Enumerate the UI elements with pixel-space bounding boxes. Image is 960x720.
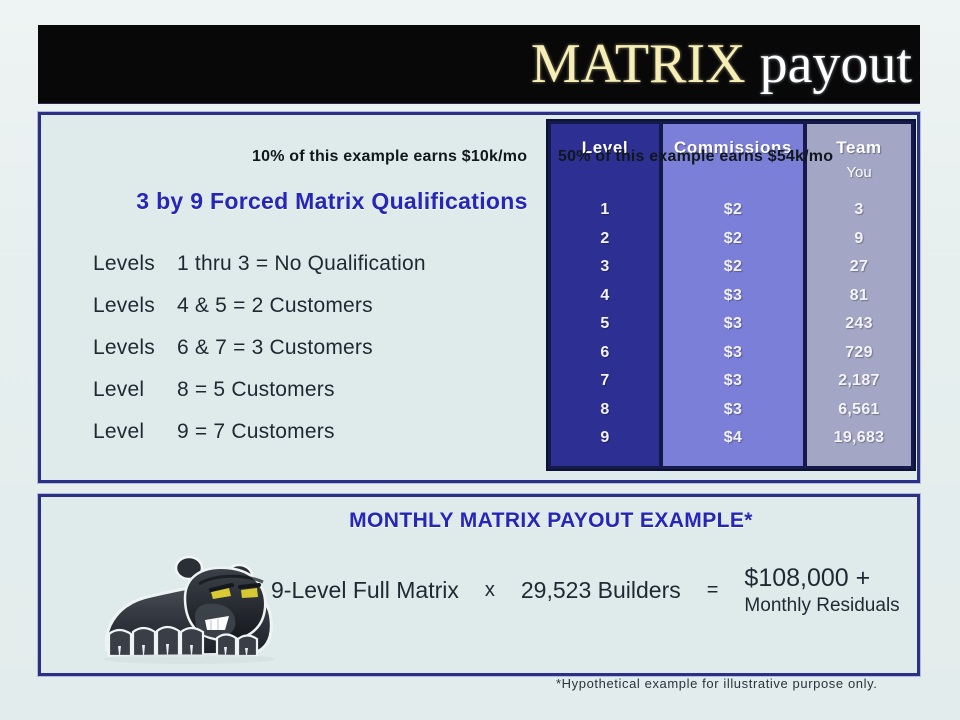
table-cell-commission: $3 [724, 282, 742, 311]
example-heading: MONTHLY MATRIX PAYOUT EXAMPLE* [201, 509, 901, 533]
qualification-row: Levels 4 & 5 = 2 Customers [59, 294, 529, 336]
table-cell-commission: $4 [724, 424, 742, 453]
formula-term-builders: 29,523 Builders [521, 577, 681, 604]
qualifications-heading: 3 by 9 Forced Matrix Qualifications [107, 188, 557, 215]
qualification-row: Levels 6 & 7 = 3 Customers [59, 336, 529, 378]
table-column-team: Team You 3 9 27 81 243 729 2,187 6,561 1… [807, 124, 911, 466]
team-cells: 3 9 27 81 243 729 2,187 6,561 19,683 [807, 196, 911, 453]
table-cell-team: 729 [845, 339, 873, 368]
table-cell-level: 7 [600, 367, 609, 396]
qualification-label: Levels [59, 252, 177, 276]
earnings-note-fifty-percent: 50% of this example earns $54k/mo [558, 148, 833, 166]
matrix-qualifications-panel: 3 by 9 Forced Matrix Qualifications Leve… [38, 112, 920, 483]
page-title-secondary: payout [746, 33, 912, 95]
table-cell-commission: $3 [724, 339, 742, 368]
table-cell-level: 3 [600, 253, 609, 282]
qualification-row: Level 9 = 7 Customers [59, 420, 529, 462]
table-cell-team: 9 [854, 225, 863, 254]
table-cell-team: 3 [854, 196, 863, 225]
table-column-level: Level 1 2 3 4 5 6 7 8 9 [551, 124, 659, 466]
table-cell-level: 5 [600, 310, 609, 339]
table-cell-level: 6 [600, 339, 609, 368]
qualification-value: 1 thru 3 = No Qualification [177, 252, 529, 276]
formula-operator-equals: = [707, 579, 719, 602]
table-cell-level: 8 [600, 396, 609, 425]
slide-canvas: MATRIX payout 3 by 9 Forced Matrix Quali… [0, 0, 960, 720]
monthly-payout-example-panel: MONTHLY MATRIX PAYOUT EXAMPLE* [38, 494, 920, 676]
table-cell-commission: $2 [724, 253, 742, 282]
payout-formula: 9-Level Full Matrix x 29,523 Builders = … [271, 563, 900, 618]
qualification-label: Level [59, 420, 177, 444]
qualifications-list: Levels 1 thru 3 = No Qualification Level… [59, 252, 529, 462]
column-subheader-team-you: You [846, 164, 871, 190]
formula-operator-multiply: x [485, 579, 495, 602]
formula-result: $108,000 + Monthly Residuals [744, 563, 899, 618]
title-bar: MATRIX payout [38, 25, 920, 103]
matrix-payout-table: Level 1 2 3 4 5 6 7 8 9 Commissions [546, 119, 916, 471]
table-cell-level: 9 [600, 424, 609, 453]
disclaimer-footnote: *Hypothetical example for illustrative p… [556, 676, 877, 691]
formula-result-amount: $108,000 + [744, 563, 870, 594]
table-cell-commission: $3 [724, 367, 742, 396]
qualification-row: Levels 1 thru 3 = No Qualification [59, 252, 529, 294]
table-cell-team: 19,683 [834, 424, 885, 453]
qualification-value: 8 = 5 Customers [177, 378, 529, 402]
page-title: MATRIX payout [531, 36, 920, 92]
table-cell-team: 2,187 [838, 367, 880, 396]
formula-term-matrix: 9-Level Full Matrix [271, 577, 459, 604]
table-cell-level: 1 [600, 196, 609, 225]
table-cell-level: 4 [600, 282, 609, 311]
column-header-team: Team [836, 138, 882, 164]
bulldog-mascot-icon [99, 546, 279, 668]
earnings-note-ten-percent: 10% of this example earns $10k/mo [252, 148, 527, 166]
qualification-value: 4 & 5 = 2 Customers [177, 294, 529, 318]
table-cell-team: 6,561 [838, 396, 880, 425]
table-cell-commission: $2 [724, 225, 742, 254]
qualification-label: Levels [59, 294, 177, 318]
table-cell-commission: $3 [724, 310, 742, 339]
qualification-label: Level [59, 378, 177, 402]
qualification-row: Level 8 = 5 Customers [59, 378, 529, 420]
table-cell-commission: $2 [724, 196, 742, 225]
table-column-commissions: Commissions $2 $2 $2 $3 $3 $3 $3 $3 $4 [663, 124, 803, 466]
qualification-label: Levels [59, 336, 177, 360]
table-cell-team: 243 [845, 310, 873, 339]
level-cells: 1 2 3 4 5 6 7 8 9 [551, 196, 659, 453]
formula-result-sublabel: Monthly Residuals [744, 594, 899, 618]
commission-cells: $2 $2 $2 $3 $3 $3 $3 $3 $4 [663, 196, 803, 453]
qualification-value: 6 & 7 = 3 Customers [177, 336, 529, 360]
table-cell-team: 81 [850, 282, 868, 311]
table-cell-team: 27 [850, 253, 868, 282]
page-title-primary: MATRIX [531, 33, 746, 95]
table-cell-commission: $3 [724, 396, 742, 425]
table-cell-level: 2 [600, 225, 609, 254]
qualification-value: 9 = 7 Customers [177, 420, 529, 444]
